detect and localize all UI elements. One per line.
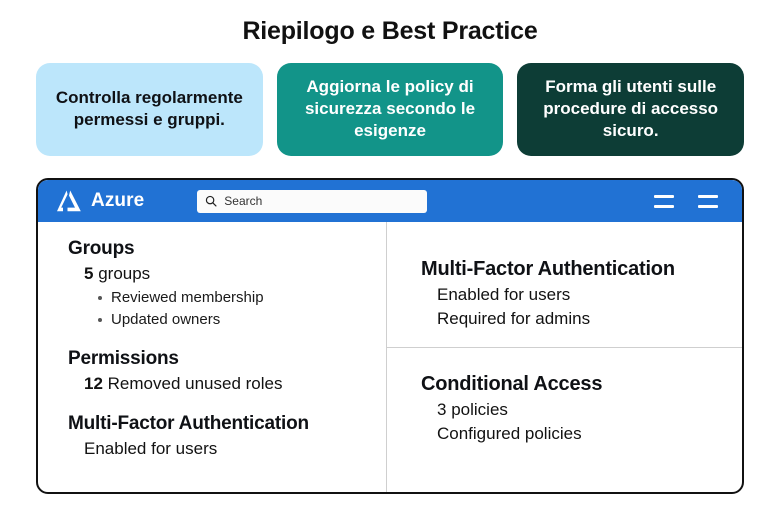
best-practice-card-1: Controlla regolarmente permessi e gruppi…: [36, 63, 263, 156]
section-mfa-right-line-1: Enabled for users: [421, 283, 742, 307]
spacer: [68, 331, 386, 348]
panel-body: Groups 5 groups Reviewed membership Upda…: [38, 222, 742, 492]
section-groups-title: Groups: [68, 238, 386, 260]
section-conditional-access-metric-label: policies: [451, 400, 508, 419]
section-conditional-access-title: Conditional Access: [421, 373, 742, 396]
list-item: Reviewed membership: [98, 287, 386, 309]
search-icon: [205, 195, 217, 207]
azure-header-bar: Azure Search: [38, 180, 742, 222]
section-groups-metric-value: 5: [84, 264, 93, 283]
menu-icon-1[interactable]: [654, 195, 674, 208]
section-conditional-access: Conditional Access 3 policies Configured…: [387, 347, 742, 446]
left-column: Groups 5 groups Reviewed membership Upda…: [38, 222, 386, 492]
section-mfa-right: Multi-Factor Authentication Enabled for …: [387, 222, 742, 331]
best-practice-card-3-text: Forma gli utenti sulle procedure di acce…: [525, 76, 736, 141]
azure-brand[interactable]: Azure: [56, 189, 144, 213]
section-permissions-metric: 12 Removed unused roles: [68, 372, 386, 396]
section-permissions-title: Permissions: [68, 348, 386, 370]
section-mfa-right-title: Multi-Factor Authentication: [421, 258, 742, 281]
azure-logo-icon: [56, 189, 82, 213]
right-column: Multi-Factor Authentication Enabled for …: [386, 222, 742, 492]
section-groups: Groups 5 groups Reviewed membership Upda…: [68, 238, 386, 331]
header-icon-group: [654, 195, 726, 208]
section-permissions: Permissions 12 Removed unused roles: [68, 348, 386, 396]
azure-wordmark: Azure: [91, 190, 144, 212]
search-placeholder: Search: [224, 194, 262, 208]
best-practice-card-3: Forma gli utenti sulle procedure di acce…: [517, 63, 744, 156]
spacer: [68, 396, 386, 413]
section-groups-metric-label: groups: [98, 264, 150, 283]
best-practice-card-2: Aggiorna le policy di sicurezza secondo …: [277, 63, 504, 156]
section-conditional-access-metric-value: 3: [437, 400, 446, 419]
section-permissions-metric-label: Removed unused roles: [108, 374, 283, 393]
search-input[interactable]: Search: [197, 190, 427, 213]
section-mfa-left-line: Enabled for users: [68, 437, 386, 461]
azure-panel: Azure Search Groups 5 group: [36, 178, 744, 494]
best-practice-card-2-text: Aggiorna le policy di sicurezza secondo …: [285, 76, 496, 141]
section-conditional-access-line: Configured policies: [421, 422, 742, 446]
section-mfa-right-line-2: Required for admins: [421, 307, 742, 331]
section-groups-metric: 5 groups: [68, 262, 386, 286]
page-title: Riepilogo e Best Practice: [0, 0, 780, 46]
section-mfa-left: Multi-Factor Authentication Enabled for …: [68, 413, 386, 461]
section-conditional-access-metric: 3 policies: [421, 398, 742, 422]
section-mfa-left-title: Multi-Factor Authentication: [68, 413, 386, 435]
best-practice-cards: Controlla regolarmente permessi e gruppi…: [0, 46, 780, 156]
section-permissions-metric-value: 12: [84, 374, 103, 393]
list-item: Updated owners: [98, 309, 386, 331]
menu-icon-2[interactable]: [698, 195, 718, 208]
best-practice-card-1-text: Controlla regolarmente permessi e gruppi…: [44, 87, 255, 131]
section-groups-bullets: Reviewed membership Updated owners: [68, 287, 386, 331]
